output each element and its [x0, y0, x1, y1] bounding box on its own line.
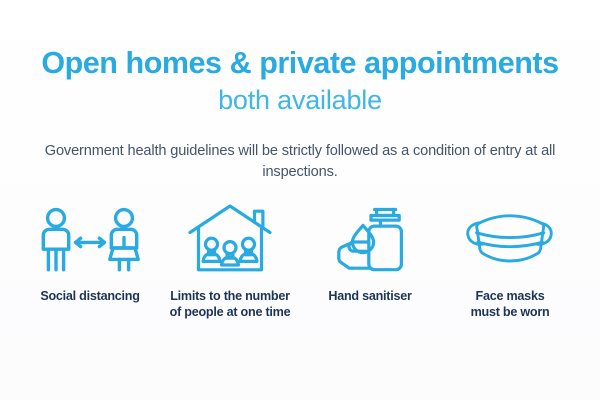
feature-art — [330, 206, 410, 278]
page-subtitle: both available — [0, 86, 600, 115]
house-occupancy-limit-icon — [187, 203, 273, 278]
feature-face-mask: Face masks must be worn — [440, 206, 580, 321]
safety-feature-list: Social distancing — [0, 183, 600, 321]
feature-label: Limits to the number of people at one ti… — [170, 289, 291, 321]
feature-label: Hand sanitiser — [328, 289, 411, 305]
page-title: Open homes & private appointments — [0, 47, 600, 79]
heading-block: Open homes & private appointments both a… — [0, 0, 600, 115]
feature-art — [187, 206, 273, 278]
feature-art — [460, 206, 560, 278]
feature-art — [33, 206, 147, 278]
guidelines-statement: Government health guidelines will be str… — [35, 115, 565, 182]
feature-label: Face masks must be worn — [471, 289, 550, 321]
face-mask-icon — [460, 208, 560, 275]
feature-social-distancing: Social distancing — [20, 206, 160, 305]
feature-hand-sanitiser: Hand sanitiser — [300, 206, 440, 305]
feature-occupancy-limit: Limits to the number of people at one ti… — [160, 206, 300, 321]
feature-label: Social distancing — [40, 289, 139, 305]
covid-safe-poster: Open homes & private appointments both a… — [0, 0, 600, 400]
hand-sanitiser-icon — [330, 203, 410, 278]
social-distancing-icon — [33, 207, 147, 278]
